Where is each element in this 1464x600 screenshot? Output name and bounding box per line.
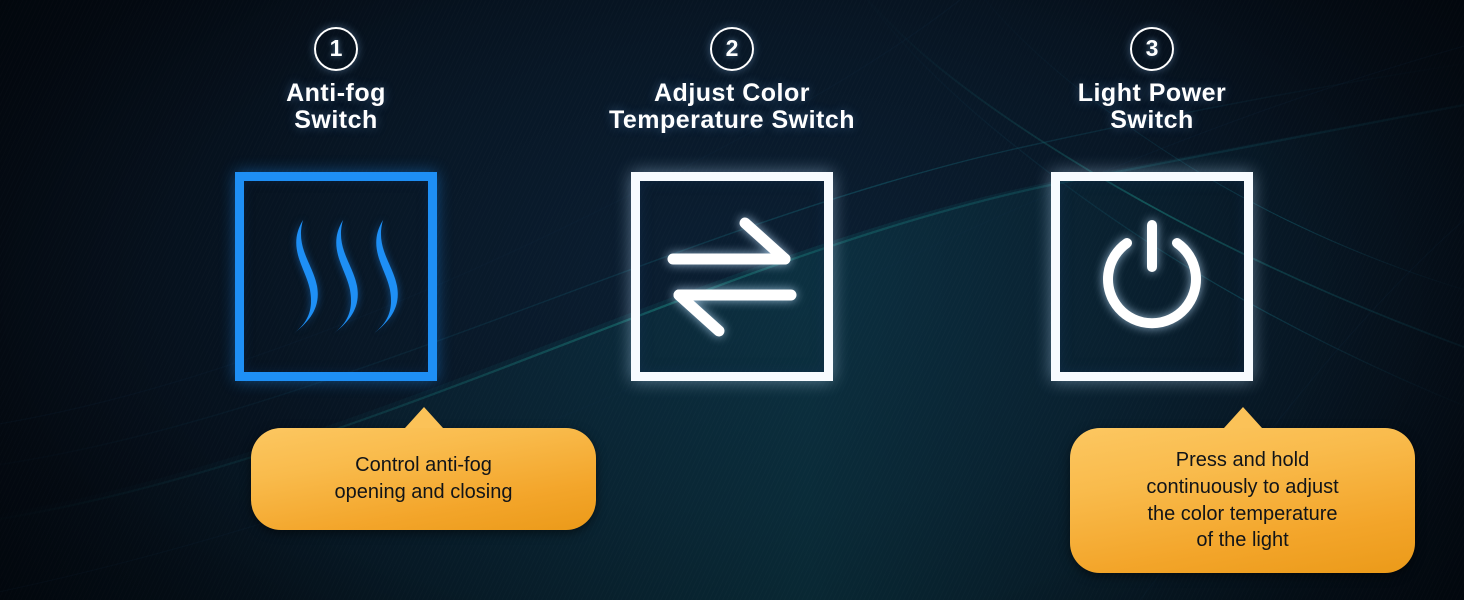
step-number-2: 2 — [726, 37, 739, 60]
column-title-2-line1: Adjust Color — [654, 79, 810, 107]
column-title-2: Adjust Color Temperature Switch — [510, 80, 954, 134]
icon-frame-anti-fog[interactable] — [235, 172, 437, 381]
column-title-3-line2: Switch — [930, 107, 1374, 134]
callout-1-line-1: Control anti-fog — [355, 454, 492, 476]
column-title-2-line2: Temperature Switch — [510, 107, 954, 134]
step-number-3: 3 — [1146, 37, 1159, 60]
column-title-3-line1: Light Power — [1078, 79, 1227, 107]
callout-1-line-2: opening and closing — [335, 481, 513, 503]
power-icon — [1090, 215, 1214, 339]
feature-column-light-power: 3 Light Power Switch Turn the LED light … — [930, 0, 1374, 600]
icon-frame-color-temperature[interactable] — [631, 172, 833, 381]
step-number-1: 1 — [330, 37, 343, 60]
icon-frame-light-power[interactable] — [1051, 172, 1253, 381]
step-badge-2: 2 — [710, 27, 754, 71]
step-badge-3: 3 — [1130, 27, 1174, 71]
infographic-canvas: 1 Anti-fog Switch Control anti-fog openi… — [0, 0, 1464, 600]
callout-pointer-1 — [405, 407, 443, 428]
feature-column-color-temperature: 2 Adjust Color Temperature Switch — [510, 0, 954, 600]
column-title-1-line1: Anti-fog — [286, 79, 386, 107]
column-title-3: Light Power Switch — [930, 80, 1374, 134]
columns-container: 1 Anti-fog Switch Control anti-fog openi… — [0, 0, 1464, 600]
steam-waves-icon — [276, 212, 396, 342]
step-badge-1: 1 — [314, 27, 358, 71]
exchange-arrows-icon — [667, 217, 797, 337]
